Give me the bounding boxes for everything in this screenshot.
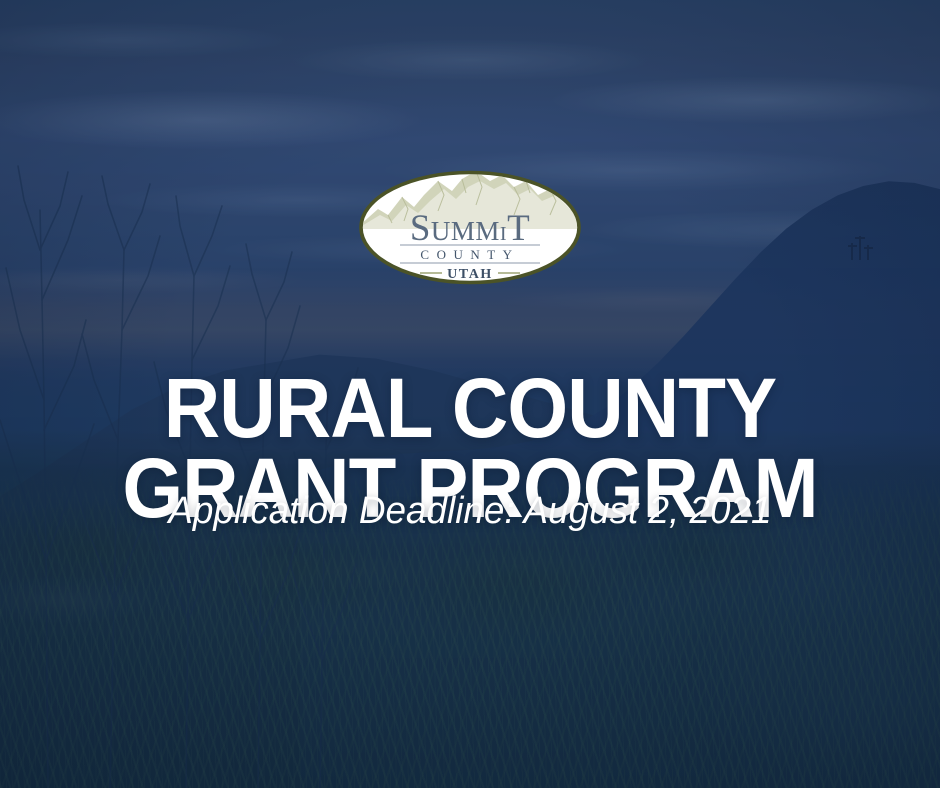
summit-county-logo: SUMMIT COUNTY UTAH [358, 169, 582, 286]
logo-utah-text: UTAH [447, 267, 493, 282]
promo-poster: SUMMIT COUNTY UTAH RURAL COUNTY GRANT PR… [0, 0, 940, 788]
headline-line-1: RURAL COUNTY [33, 368, 907, 448]
deadline-label: Application Deadline: August 2, 2021 [168, 489, 771, 533]
logo-county-text: COUNTY [420, 247, 519, 262]
deadline-text: Application Deadline: August 2, 2021 [0, 489, 940, 533]
poster-content: SUMMIT COUNTY UTAH RURAL COUNTY GRANT PR… [0, 0, 940, 788]
